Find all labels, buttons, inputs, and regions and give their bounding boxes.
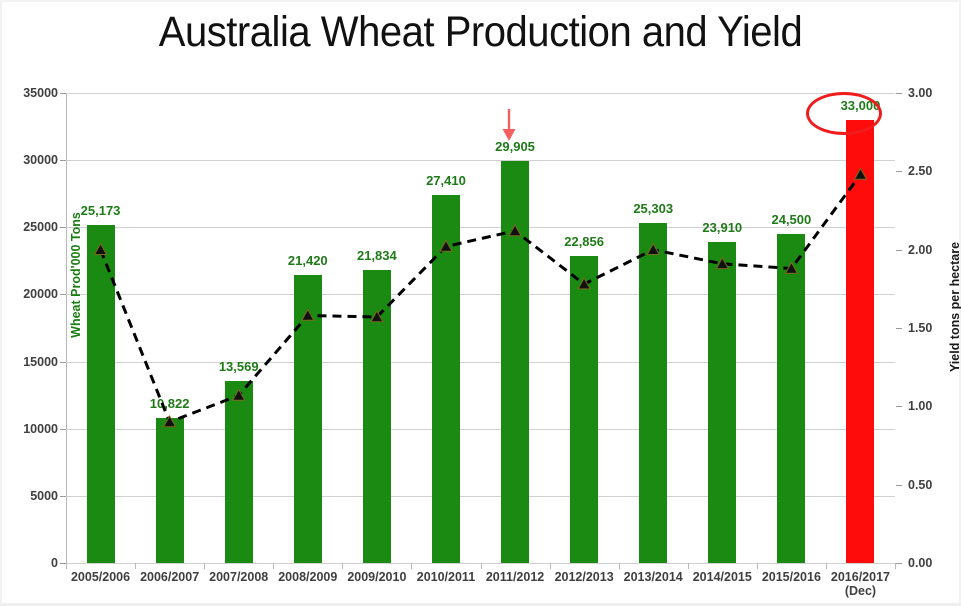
bar-value-label: 22,856 [542, 234, 626, 249]
y-axis-left-tick-label: 25000 [4, 220, 58, 234]
y-axis-left-tick-label: 35000 [4, 86, 58, 100]
y-axis-left-tick-mark [60, 429, 66, 430]
y-axis-right-tick-mark [896, 563, 902, 564]
x-axis-tick-label: 2008/2009 [271, 570, 345, 584]
bar[interactable] [708, 242, 736, 563]
x-axis-tick-label: 2016/2017(Dec) [823, 570, 897, 598]
x-axis-tick-mark [826, 563, 827, 569]
gridline [66, 429, 895, 430]
y-axis-right-tick-mark [896, 485, 902, 486]
y-axis-right-tick-label: 2.50 [908, 164, 961, 178]
x-axis-tick-label: 2012/2013 [547, 570, 621, 584]
bar[interactable] [777, 234, 805, 563]
yield-line-series [0, 0, 961, 606]
x-axis-tick-label: 2010/2011 [409, 570, 483, 584]
x-axis-tick-label-text: 2011/2012 [486, 570, 544, 584]
y-axis-left-line [66, 93, 67, 564]
x-axis-tick-mark [550, 563, 551, 569]
x-axis-tick-mark [66, 563, 67, 569]
gridline [66, 496, 895, 497]
x-axis-tick-label: 2007/2008 [202, 570, 276, 584]
bar[interactable] [294, 275, 322, 563]
x-axis-tick-label-text: 2008/2009 [278, 570, 337, 584]
bar-value-label: 24,500 [749, 212, 833, 227]
gridline [66, 362, 895, 363]
x-axis-tick-label-text: 2013/2014 [624, 570, 683, 584]
highlight-ellipse-annotation [806, 92, 882, 135]
y-axis-left-tick-label: 20000 [4, 287, 58, 301]
x-axis-tick-mark [411, 563, 412, 569]
bar[interactable] [87, 225, 115, 563]
bar[interactable] [363, 270, 391, 563]
y-axis-left-tick-mark [60, 93, 66, 94]
bar[interactable] [501, 161, 529, 563]
y-axis-right-tick-label: 3.00 [908, 86, 961, 100]
bar[interactable] [432, 195, 460, 563]
bar-value-label: 21,834 [335, 248, 419, 263]
y-axis-left-tick-mark [60, 227, 66, 228]
y-axis-right-tick-mark [896, 250, 902, 251]
x-axis-tick-label-text: 2015/2016 [762, 570, 821, 584]
x-axis-tick-mark [204, 563, 205, 569]
x-axis-tick-label: 2015/2016 [754, 570, 828, 584]
x-axis-tick-label-text: 2010/2011 [417, 570, 475, 584]
y-axis-left-tick-label: 30000 [4, 153, 58, 167]
bar-value-label: 25,303 [611, 201, 695, 216]
x-axis-tick-mark [273, 563, 274, 569]
y-axis-right-tick-mark [896, 406, 902, 407]
x-axis-tick-mark [619, 563, 620, 569]
y-axis-right-tick-mark [896, 93, 902, 94]
x-axis-tick-label: 2009/2010 [340, 570, 414, 584]
chart-frame [0, 0, 961, 606]
bar-value-label: 13,569 [197, 359, 281, 374]
bar[interactable] [639, 223, 667, 563]
y-axis-left-tick-mark [60, 496, 66, 497]
x-axis-tick-label-text: 2005/2006 [71, 570, 130, 584]
bar[interactable] [846, 120, 874, 563]
y-axis-right-tick-mark [896, 328, 902, 329]
chart-title: Australia Wheat Production and Yield [34, 8, 928, 57]
y-axis-left-tick-label: 0 [4, 556, 58, 570]
x-axis-tick-label: 2005/2006 [64, 570, 138, 584]
chart-root: Australia Wheat Production and Yield 050… [0, 0, 961, 606]
x-axis-tick-label-text: 2006/2007 [140, 570, 199, 584]
down-arrow-annotation [498, 108, 520, 142]
x-axis-tick-mark [342, 563, 343, 569]
x-axis-tick-label-text: 2016/2017 [831, 570, 890, 584]
x-axis-tick-label: 2006/2007 [133, 570, 207, 584]
bar[interactable] [570, 256, 598, 563]
bar[interactable] [156, 418, 184, 563]
y-axis-right-tick-label: 0.00 [908, 556, 961, 570]
gridline [66, 93, 895, 94]
x-axis-tick-label: 2013/2014 [616, 570, 690, 584]
bar[interactable] [225, 381, 253, 563]
y-axis-right-tick-mark [896, 171, 902, 172]
x-axis-tick-label-text: 2007/2008 [209, 570, 268, 584]
x-axis-tick-mark [481, 563, 482, 569]
x-axis-tick-mark [135, 563, 136, 569]
x-axis-tick-mark [757, 563, 758, 569]
y-axis-right-title: Yield tons per hectare [948, 207, 961, 407]
x-axis-tick-label-text: 2014/2015 [693, 570, 752, 584]
bar-value-label: 10,822 [128, 396, 212, 411]
x-axis-tick-mark [895, 563, 896, 569]
yield-line [101, 175, 861, 423]
y-axis-left-tick-mark [60, 160, 66, 161]
y-axis-left-tick-mark [60, 294, 66, 295]
bar-value-label: 25,173 [59, 203, 143, 218]
x-axis-tick-mark [688, 563, 689, 569]
bar-value-label: 27,410 [404, 173, 488, 188]
y-axis-left-tick-label: 10000 [4, 422, 58, 436]
x-axis-tick-label: 2014/2015 [685, 570, 759, 584]
gridline [66, 227, 895, 228]
gridline [66, 160, 895, 161]
gridline [66, 294, 895, 295]
y-axis-left-tick-label: 15000 [4, 355, 58, 369]
x-axis-tick-label-text: 2012/2013 [555, 570, 614, 584]
y-axis-left-tick-label: 5000 [4, 489, 58, 503]
y-axis-right-tick-label: 0.50 [908, 478, 961, 492]
y-axis-left-tick-mark [60, 362, 66, 363]
x-axis-tick-sublabel: (Dec) [823, 584, 897, 598]
x-axis-tick-label-text: 2009/2010 [347, 570, 406, 584]
x-axis-tick-label: 2011/2012 [478, 570, 552, 584]
